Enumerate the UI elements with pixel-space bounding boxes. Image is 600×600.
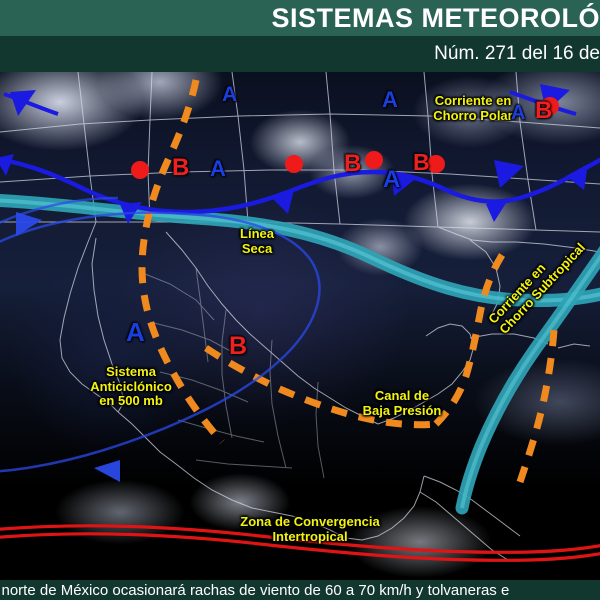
high-pressure-marker-3: A (210, 158, 226, 180)
high-pressure-marker-6: A (126, 319, 145, 345)
bulletin-number: Núm. 271 del 16 de (434, 42, 600, 66)
low-pressure-marker-2: B (344, 152, 361, 176)
label-low-channel: Canal de Baja Presión (342, 389, 462, 418)
label-polar-jet: Corriente en Chorro Polar (398, 94, 548, 123)
low-pressure-marker-5: B (229, 334, 247, 359)
label-dry-line: Línea Seca (212, 227, 302, 256)
high-pressure-marker-4: A (383, 168, 400, 192)
page-title: SISTEMAS METEOROLÓ (271, 4, 600, 32)
high-pressure-marker-2: A (382, 89, 398, 111)
low-pressure-marker-1: B (172, 156, 189, 180)
high-pressure-marker-1: A (222, 84, 237, 105)
weather-bulletin-screenshot: SISTEMAS METEOROLÓ Núm. 271 del 16 de (0, 0, 600, 600)
low-pressure-marker-4: B (535, 99, 552, 123)
subheader-bar: Núm. 271 del 16 de (0, 36, 600, 72)
bottom-ticker-bar: l norte de México ocasionará rachas de v… (0, 580, 600, 600)
low-pressure-marker-3: B (413, 151, 430, 174)
ticker-message: l norte de México ocasionará rachas de v… (0, 580, 509, 600)
label-anticyclone: Sistema Anticiclónico en 500 mb (56, 365, 206, 409)
high-pressure-marker-5: A (511, 103, 525, 123)
weather-map: A A A A A A B B B B B Corriente en Chorr… (0, 72, 600, 580)
label-itcz: Zona de Convergencia Intertropical (204, 515, 416, 544)
header-bar: SISTEMAS METEOROLÓ (0, 0, 600, 36)
